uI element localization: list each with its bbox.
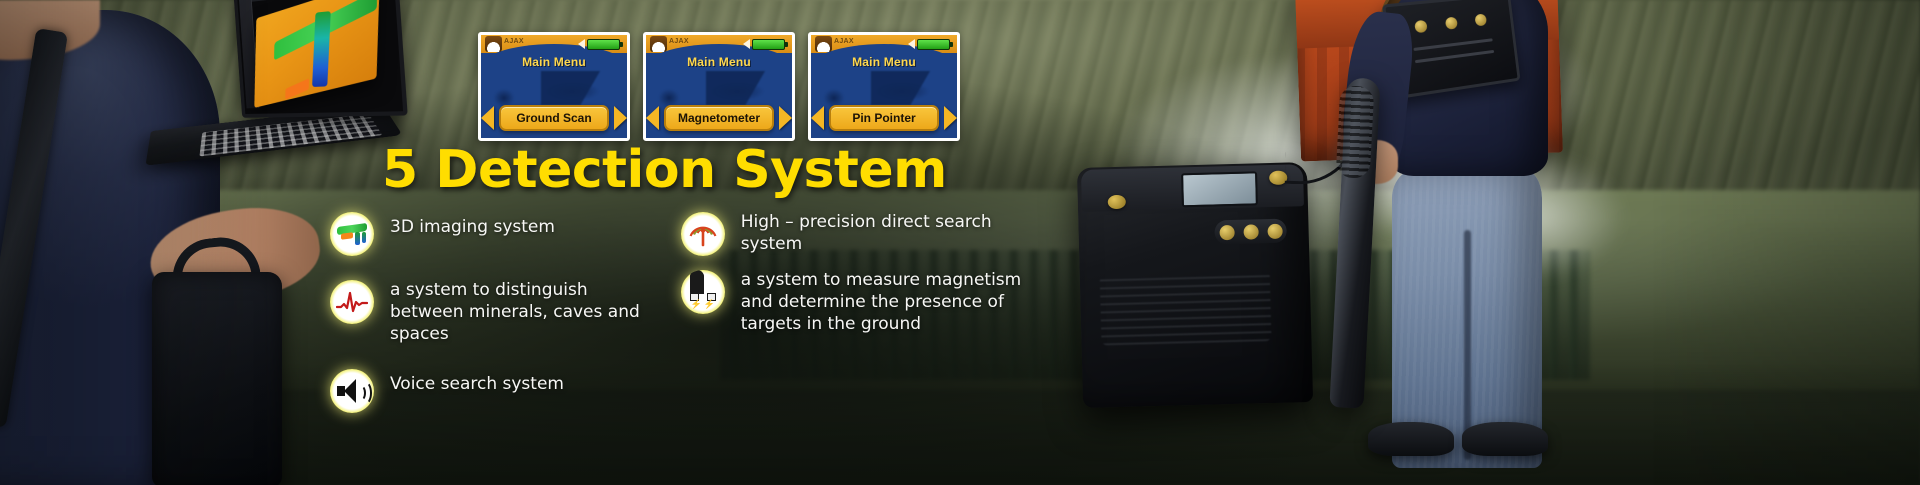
- tablet-indicator-lights: [1414, 14, 1487, 34]
- panel-artwork: [871, 71, 949, 105]
- lightning-bolt-icon: ⚡: [703, 300, 714, 309]
- detector-button: [1219, 224, 1234, 239]
- brand-logo-icon: [650, 36, 667, 52]
- device-panel-ground-scan[interactable]: AJAX Main Menu Ground Scan: [478, 32, 630, 141]
- panel-mode-selector: Magnetometer: [646, 105, 792, 131]
- technician-right-shoe: [1462, 422, 1548, 456]
- page-title: 5 Detection System: [382, 140, 947, 200]
- feature-column-right: High – precision direct search system ⚡ …: [661, 212, 1050, 413]
- tablet-detail-line: [1415, 50, 1494, 63]
- device-menu-panels: AJAX Main Menu Ground Scan AJAX Main Men…: [478, 32, 960, 141]
- terrain-blue-target: [362, 232, 366, 243]
- feature-list: 3D imaging system a system to distinguis…: [330, 212, 1050, 413]
- right-scene-technician-with-probe: [1340, 0, 1660, 485]
- chevron-right-icon[interactable]: [944, 106, 957, 130]
- terrain-3d-glyph: [335, 223, 369, 245]
- feature-item-mineral-distinction: a system to distinguish between minerals…: [330, 280, 651, 345]
- feature-item-magnetism: ⚡ ⚡ a system to measure magnetism and de…: [681, 270, 1050, 335]
- panel-brand-label: AJAX: [834, 38, 854, 45]
- panel-title: Main Menu: [481, 55, 627, 69]
- panel-brand-label: AJAX: [504, 38, 524, 45]
- panel-artwork: [706, 71, 784, 105]
- panel-mode-selector: Ground Scan: [481, 105, 627, 131]
- panel-title: Main Menu: [646, 55, 792, 69]
- pulse-waveform-icon: [330, 280, 374, 324]
- speaker-icon: [578, 39, 585, 49]
- panel-mode-button[interactable]: Magnetometer: [664, 105, 774, 131]
- magnet-icon: ⚡ ⚡: [681, 270, 725, 314]
- feature-label: 3D imaging system: [390, 212, 555, 239]
- detector-button: [1243, 224, 1258, 239]
- speaker-icon: [743, 39, 750, 49]
- chevron-left-icon[interactable]: [481, 106, 494, 130]
- feature-label: a system to distinguish between minerals…: [390, 280, 651, 345]
- panel-artwork: [541, 71, 619, 105]
- chevron-right-icon[interactable]: [614, 106, 627, 130]
- ground-detector-unit: [1077, 162, 1313, 408]
- chevron-right-icon[interactable]: [779, 106, 792, 130]
- terrain-blue-target: [355, 232, 360, 245]
- brand-logo-icon: [815, 36, 832, 52]
- feature-label: High – precision direct search system: [741, 212, 1050, 256]
- tablet-detail-line: [1413, 38, 1492, 51]
- panel-mode-button[interactable]: Ground Scan: [499, 105, 609, 131]
- pulse-waveform-glyph: [336, 289, 368, 315]
- tablet-indicator: [1414, 20, 1428, 33]
- tablet-indicator: [1474, 14, 1487, 27]
- chevron-left-icon[interactable]: [811, 106, 824, 130]
- probe-grip: [1336, 85, 1375, 179]
- panel-title: Main Menu: [811, 55, 957, 69]
- magnet-glyph: ⚡ ⚡: [690, 277, 716, 307]
- laptop-screen: [233, 0, 407, 118]
- detector-vents: [1100, 271, 1272, 345]
- magnet-horseshoe: [690, 270, 704, 294]
- chevron-left-icon[interactable]: [646, 106, 659, 130]
- equipment-bag: [152, 272, 282, 485]
- terrain-3d-icon: [330, 212, 374, 256]
- feature-column-left: 3D imaging system a system to distinguis…: [330, 212, 651, 413]
- feature-label: a system to measure magnetism and determ…: [741, 270, 1050, 335]
- battery-icon: [917, 39, 950, 50]
- battery-icon: [752, 39, 785, 50]
- device-panel-magnetometer[interactable]: AJAX Main Menu Magnetometer: [643, 32, 795, 141]
- detector-button-cluster: [1214, 219, 1287, 245]
- detector-button: [1267, 223, 1282, 238]
- technician-right-leg-split: [1464, 230, 1471, 460]
- tablet-indicator: [1445, 17, 1458, 30]
- feature-item-voice-search: Voice search system: [330, 369, 651, 413]
- device-panel-pin-pointer[interactable]: AJAX Main Menu Pin Pointer: [808, 32, 960, 141]
- radar-signal-icon: [681, 212, 725, 256]
- technician-right-shoe: [1368, 422, 1454, 456]
- scan-3d-orange-layer: [285, 78, 309, 100]
- panel-mode-selector: Pin Pointer: [811, 105, 957, 131]
- speaker-wave: [360, 377, 374, 409]
- speaker-cone: [344, 379, 356, 403]
- laptop: [140, 0, 402, 183]
- promo-banner: AJAX Main Menu Ground Scan AJAX Main Men…: [0, 0, 1920, 485]
- panel-mode-button[interactable]: Pin Pointer: [829, 105, 939, 131]
- terrain-orange-layer: [341, 232, 353, 240]
- brand-logo-icon: [485, 36, 502, 52]
- speaker-icon: [330, 369, 374, 413]
- speaker-glyph: [337, 379, 367, 403]
- feature-item-3d-imaging: 3D imaging system: [330, 212, 651, 256]
- detector-display: [1181, 171, 1258, 207]
- lightning-bolt-icon: ⚡: [691, 300, 702, 309]
- panel-brand-label: AJAX: [669, 38, 689, 45]
- feature-item-high-precision: High – precision direct search system: [681, 212, 1050, 256]
- radar-signal-glyph: [688, 219, 718, 249]
- speaker-icon: [908, 39, 915, 49]
- battery-icon: [587, 39, 620, 50]
- feature-label: Voice search system: [390, 369, 564, 396]
